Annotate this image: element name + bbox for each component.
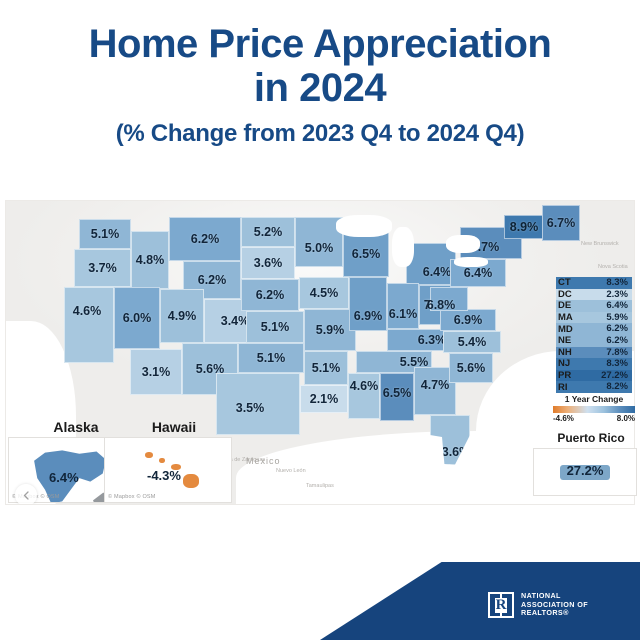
color-scale-title: 1 Year Change	[551, 394, 637, 404]
state-WV[interactable]: 6.8%	[430, 287, 468, 311]
legend-abbr: DC	[556, 289, 580, 300]
state-SC[interactable]: 5.6%	[449, 353, 493, 383]
legend-row[interactable]: NJ 8.3%	[556, 358, 632, 370]
legend-row[interactable]: DC 2.3%	[556, 289, 632, 301]
lake-michigan	[392, 227, 414, 267]
state-ME[interactable]: 6.7%	[542, 205, 580, 241]
state-UT[interactable]: 4.9%	[160, 289, 204, 343]
state-CO-value: 3.4%	[221, 314, 250, 328]
state-WY-value: 6.2%	[198, 273, 227, 287]
state-VA[interactable]: 6.9%	[440, 309, 496, 331]
legend-row[interactable]: MD 6.2%	[556, 323, 632, 335]
hawaii-island-kauai	[145, 452, 153, 458]
legend-abbr: MA	[556, 312, 580, 323]
state-ID-value: 4.8%	[136, 253, 165, 267]
state-CA-value: 4.6%	[73, 304, 102, 318]
legend-row[interactable]: DE 6.4%	[556, 300, 632, 312]
state-NE-value: 6.2%	[256, 288, 285, 302]
state-IL[interactable]: 6.9%	[349, 277, 387, 331]
previous-arrow-button[interactable]	[15, 484, 37, 505]
nar-line-3: REALTORS®	[521, 609, 588, 618]
hawaii-inset[interactable]: -4.3% © Mapbox © OSM	[104, 437, 232, 503]
logo-letter: R	[495, 598, 508, 613]
state-ND-value: 5.2%	[254, 225, 283, 239]
state-VT[interactable]: 8.9%	[504, 215, 544, 239]
color-scale-legend: 1 Year Change -4.6% 8.0%	[551, 394, 637, 423]
legend-value: 6.2%	[580, 335, 632, 347]
legend-value: 27.2%	[580, 370, 632, 382]
nar-logo[interactable]: R NATIONAL ASSOCIATION OF REALTORS®	[488, 592, 588, 618]
state-VA-value: 6.9%	[454, 313, 483, 327]
label-nova-scotia: Nova Scotia	[598, 264, 628, 270]
state-AL-value: 6.5%	[383, 386, 412, 400]
legend-abbr: MD	[556, 324, 580, 335]
puerto-rico-inset[interactable]: 27.2%	[533, 448, 637, 496]
page-title-line2: in 2024	[254, 66, 386, 110]
legend-row[interactable]: PR 27.2%	[556, 370, 632, 382]
state-NC-value: 5.4%	[458, 335, 487, 349]
state-MO-value: 5.9%	[316, 323, 345, 337]
legend-value: 8.3%	[580, 358, 632, 370]
state-LA-value: 2.1%	[310, 392, 339, 406]
state-PA-value: 6.4%	[464, 266, 493, 280]
title-block: Home Price Appreciation in 2024 (% Chang…	[0, 22, 640, 148]
legend-abbr: NH	[556, 347, 580, 358]
legend-value: 5.9%	[580, 312, 632, 324]
state-AL[interactable]: 6.5%	[380, 373, 414, 421]
color-scale-endpoints: -4.6% 8.0%	[553, 414, 635, 423]
lake-superior	[336, 215, 392, 237]
label-tamaulipas: Tamaulipas	[306, 483, 334, 489]
state-IN-value: 6.1%	[389, 307, 418, 321]
legend-abbr: PR	[556, 370, 580, 381]
lake-erie	[454, 257, 488, 267]
label-new-brunswick: New Brunswick	[581, 241, 619, 247]
legend-row[interactable]: RI 8.2%	[556, 381, 632, 393]
legend-row[interactable]: NE 6.2%	[556, 335, 632, 347]
state-KY-value: 6.3%	[418, 333, 447, 347]
state-IA-value: 4.5%	[310, 286, 339, 300]
state-LA[interactable]: 2.1%	[300, 385, 348, 413]
state-SD[interactable]: 3.6%	[241, 247, 295, 279]
state-NV-value: 6.0%	[123, 311, 152, 325]
legend-value: 6.4%	[580, 300, 632, 312]
realtor-r-icon: R	[488, 592, 514, 618]
legend-abbr: RI	[556, 382, 580, 393]
footer-wedge	[320, 562, 640, 640]
state-WA-value: 5.1%	[91, 227, 120, 241]
state-AZ-value: 3.1%	[142, 365, 171, 379]
state-CA[interactable]: 4.6%	[64, 287, 114, 363]
state-WI-value: 6.5%	[352, 247, 381, 261]
puerto-rico-title: Puerto Rico	[545, 431, 637, 445]
legend-value: 6.2%	[580, 323, 632, 335]
color-scale-min: -4.6%	[553, 414, 574, 423]
legend-value: 8.3%	[580, 277, 632, 289]
state-MS[interactable]: 4.6%	[348, 373, 380, 419]
state-OK-value: 5.1%	[257, 351, 286, 365]
lake-huron	[446, 235, 480, 253]
state-MN-value: 5.0%	[305, 241, 334, 255]
color-scale-bar	[553, 406, 635, 413]
legend-abbr: NJ	[556, 358, 580, 369]
state-WV-value: 6.8%	[427, 298, 456, 312]
legend-row[interactable]: NH 7.8%	[556, 347, 632, 359]
state-KY[interactable]: 6.3%	[387, 329, 449, 351]
small-states-legend[interactable]: CT 8.3% DC 2.3% DE 6.4% MA 5.9% MD 6.2% …	[556, 277, 632, 393]
state-MT-value: 6.2%	[191, 232, 220, 246]
state-GA-value: 4.7%	[421, 378, 450, 392]
state-OR-value: 3.7%	[88, 261, 117, 275]
hawaii-value: -4.3%	[147, 468, 181, 483]
puerto-rico-value: 27.2%	[534, 463, 636, 478]
legend-row[interactable]: MA 5.9%	[556, 312, 632, 324]
state-VT-value: 8.9%	[510, 220, 539, 234]
legend-abbr: CT	[556, 277, 580, 288]
state-MT[interactable]: 6.2%	[169, 217, 241, 261]
state-WI[interactable]: 6.5%	[343, 231, 389, 277]
footer: R NATIONAL ASSOCIATION OF REALTORS®	[0, 562, 640, 640]
state-AR[interactable]: 5.1%	[304, 351, 348, 385]
state-SC-value: 5.6%	[457, 361, 486, 375]
state-ID[interactable]: 4.8%	[131, 231, 169, 289]
state-OR[interactable]: 3.7%	[74, 249, 131, 287]
color-scale-max: 8.0%	[617, 414, 635, 423]
nar-logo-text: NATIONAL ASSOCIATION OF REALTORS®	[521, 592, 588, 618]
state-NV[interactable]: 6.0%	[114, 287, 160, 349]
hawaii-island-oahu	[159, 458, 165, 463]
page-title: Home Price Appreciation in 2024	[18, 22, 622, 110]
state-MS-value: 4.6%	[350, 379, 379, 393]
legend-abbr: DE	[556, 300, 580, 311]
state-TX-value: 3.5%	[236, 401, 265, 415]
legend-value: 8.2%	[580, 381, 632, 393]
legend-abbr: NE	[556, 335, 580, 346]
state-KS[interactable]: 5.1%	[246, 311, 304, 343]
state-WA[interactable]: 5.1%	[79, 219, 131, 249]
label-nuevo-leon: Nuevo León	[276, 468, 306, 474]
legend-value: 7.8%	[580, 347, 632, 359]
state-SD-value: 3.6%	[254, 256, 283, 270]
chevron-left-icon	[22, 491, 31, 500]
page-subtitle: (% Change from 2023 Q4 to 2024 Q4)	[18, 120, 622, 148]
state-UT-value: 4.9%	[168, 309, 197, 323]
legend-value: 2.3%	[580, 289, 632, 301]
hawaii-island-big	[183, 474, 199, 488]
state-MI-value: 6.4%	[423, 265, 452, 279]
state-ND[interactable]: 5.2%	[241, 217, 295, 247]
state-AZ[interactable]: 3.1%	[130, 349, 182, 395]
state-AR-value: 5.1%	[312, 361, 341, 375]
state-NC[interactable]: 5.4%	[443, 331, 501, 353]
state-IA[interactable]: 4.5%	[299, 277, 349, 309]
state-IN[interactable]: 6.1%	[387, 283, 419, 329]
poster-canvas: Home Price Appreciation in 2024 (% Chang…	[0, 0, 640, 640]
legend-row[interactable]: CT 8.3%	[556, 277, 632, 289]
alaska-value: 6.4%	[49, 470, 79, 485]
state-IL-value: 6.9%	[354, 309, 383, 323]
state-OK[interactable]: 5.1%	[238, 343, 304, 373]
page-title-line1: Home Price Appreciation	[89, 22, 552, 66]
state-KS-value: 5.1%	[261, 320, 290, 334]
hawaii-inset-title: Hawaii	[114, 419, 234, 435]
hawaii-attribution: © Mapbox © OSM	[108, 494, 156, 500]
state-NE[interactable]: 6.2%	[241, 279, 299, 311]
state-ME-value: 6.7%	[547, 216, 576, 230]
